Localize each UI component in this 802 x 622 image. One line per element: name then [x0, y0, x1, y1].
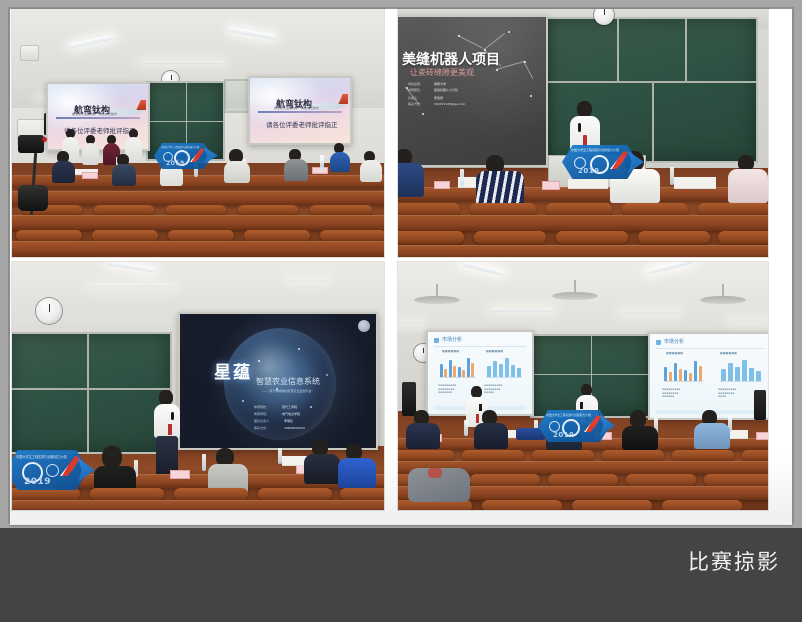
classroom-scene: 市场分析 ■■■■■■ ■■■■■■ [398, 262, 768, 510]
slide-title: 美缝机器人项目 [402, 49, 500, 69]
projection-screen: 星蕴 智慧农业信息系统 ——“基于物联网的智慧农业监测平台” 参赛院校： 现代工… [178, 312, 378, 450]
projection-screen-right: 市场分析 ■■■■■■ ■■■■■■ [648, 332, 768, 420]
slide-field-value: 李明哲 [284, 420, 293, 424]
photo-bottom-left: 星蕴 智慧农业信息系统 ——“基于物联网的智慧农业监测平台” 参赛院校： 现代工… [12, 262, 384, 510]
classroom-scene: 航弯钛构 航空航天金属构件一体化成形技术 请各位评委老师批评指正 航弯钛构 航空… [12, 9, 384, 257]
slide-footer: 请各位评委老师批评指正 [266, 119, 338, 129]
photo-bottom-right: 市场分析 ■■■■■■ ■■■■■■ [398, 262, 768, 510]
slide-title: 市场分析 [442, 336, 462, 343]
projection-screen-right: 航弯钛构 航空航天金属构件一体化成形技术 请各位评委老师批评指正 [248, 76, 352, 145]
slide-field-value: 黄俊豪 [434, 97, 443, 101]
competition-logo-text: 中国大学生工程实践与创新能力大赛 [16, 454, 78, 459]
competition-logo: 中国大学生工程实践与创新能力大赛 2019 [538, 410, 610, 442]
competition-logo-text: 中国大学生工程实践与创新能力大赛 [161, 145, 205, 149]
slide-field-value: 美缝机器人小分队 [434, 89, 458, 93]
slide-title: 市场分析 [664, 338, 684, 345]
slide-tagline: ——“基于物联网的智慧农业监测平台” [262, 390, 313, 394]
classroom-scene: 星蕴 智慧农业信息系统 ——“基于物联网的智慧农业监测平台” 参赛院校： 现代工… [12, 262, 384, 510]
wall-clock-icon [36, 298, 62, 324]
caption-band [0, 528, 802, 622]
competition-logo-year: 2019 [166, 160, 185, 167]
slide-field-value: 18800000000 [284, 427, 305, 431]
slide-field-label: 学校名称： [408, 83, 423, 87]
competition-logo-text: 中国大学生工程实践与创新能力大赛 [546, 413, 602, 417]
photo-top-right: 美缝机器人项目 让瓷砖缝隙更美观 学校名称： 湖南大学 参赛团队： 美缝机器人小… [398, 9, 768, 257]
competition-logo-year: 2019 [578, 167, 599, 175]
slide-field-label: 负责人： [408, 97, 420, 101]
projection-screen: 美缝机器人项目 让瓷砖缝隙更美观 学校名称： 湖南大学 参赛团队： 美缝机器人小… [398, 15, 548, 167]
classroom-scene: 美缝机器人项目 让瓷砖缝隙更美观 学校名称： 湖南大学 参赛团队： 美缝机器人小… [398, 9, 768, 257]
competition-logo: 中国大学生工程实践与创新能力大赛 2019 [562, 145, 638, 179]
competition-logo-year: 2019 [553, 431, 574, 439]
slide-caption: 比赛掠影 [688, 546, 780, 576]
slide-subtitle: 智慧农业信息系统 [256, 376, 320, 387]
slide-title: 星蕴 [214, 358, 252, 383]
competition-logo: 中国大学生工程实践与创新能力大赛 2019 [154, 143, 212, 169]
slide-subtitle: 让瓷砖缝隙更美观 [410, 67, 474, 78]
photo-grid: 航弯钛构 航空航天金属构件一体化成形技术 请各位评委老师批评指正 航弯钛构 航空… [12, 9, 770, 511]
slide-field-value: 湖南大学 [434, 83, 446, 87]
slide-field-label: 团队负责人： [254, 420, 272, 424]
slide-field-value: 电气信息学院 [282, 413, 300, 417]
slide-field-label: 联系方式： [254, 427, 269, 431]
photo-top-left: 航弯钛构 航空航天金属构件一体化成形技术 请各位评委老师批评指正 航弯钛构 航空… [12, 9, 384, 257]
slide-field-label: 参赛团队： [408, 89, 423, 93]
slide-field-label: 参赛院校： [254, 406, 269, 410]
slide-field-label: 参赛学院： [254, 413, 269, 417]
slide-subtitle: 航空航天金属构件一体化成形技术 [72, 113, 117, 117]
slide-canvas: 航弯钛构 航空航天金属构件一体化成形技术 请各位评委老师批评指正 航弯钛构 航空… [0, 0, 802, 622]
competition-logo-text: 中国大学生工程实践与创新能力大赛 [571, 148, 629, 152]
competition-logo: 中国大学生工程实践与创新能力大赛 2019 [12, 450, 88, 490]
slide-field-value: 342471125@qq.com [434, 103, 465, 107]
competition-logo-year: 2019 [24, 477, 51, 487]
slide-field-label: 联系方式： [408, 103, 423, 107]
slide-field-value: 现代工学院 [282, 406, 297, 410]
slide-subtitle: 航空航天金属构件一体化成形技术 [274, 107, 319, 111]
